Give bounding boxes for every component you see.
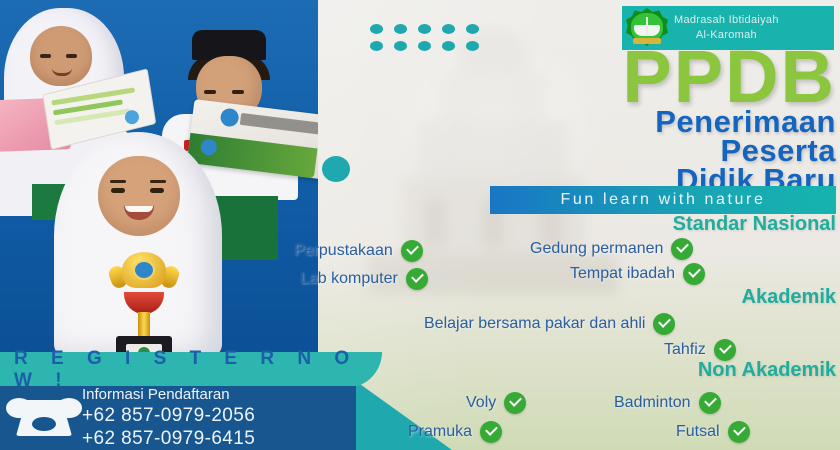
check-circle-icon: [401, 240, 423, 262]
check-circle-icon: [714, 339, 736, 361]
contact-phone-2[interactable]: +62 857-0979-6415: [82, 427, 255, 450]
feature-label: Tempat ibadah: [570, 265, 675, 283]
page-title-acronym: PPDB: [498, 42, 840, 112]
students-photo: [0, 0, 318, 368]
check-circle-icon: [683, 263, 705, 285]
feature-label: Lab komputer: [300, 270, 398, 288]
feature-item: Gedung permanen: [530, 238, 693, 260]
check-circle-icon: [671, 238, 693, 260]
feature-label: Belajar bersama pakar dan ahli: [424, 315, 645, 333]
contact-details: Informasi Pendaftaran +62 857-0979-2056 …: [82, 386, 255, 450]
teal-circle-decoration: [322, 156, 350, 182]
school-name-line1: Madrasah Ibtidaiyah: [674, 13, 779, 28]
feature-item: Lab komputer: [300, 268, 428, 290]
feature-label: Perpustakaan: [294, 242, 393, 260]
feature-item: Tempat ibadah: [570, 263, 705, 285]
dot-grid-decoration: [370, 24, 482, 51]
ppdb-admission-poster: Madrasah Ibtidaiyah Al-Karomah PPDB Pene…: [0, 0, 840, 450]
feature-item: Futsal: [676, 421, 750, 443]
section-heading-standar-nasional: Standar Nasional: [673, 213, 836, 236]
feature-item: Perpustakaan: [294, 240, 423, 262]
student-girl-front: [10, 132, 270, 368]
register-now-banner[interactable]: R E G I S T E R N O W !: [0, 352, 382, 388]
check-circle-icon: [480, 421, 502, 443]
feature-label: Tahfiz: [664, 341, 706, 359]
feature-item: Belajar bersama pakar dan ahli: [424, 313, 675, 335]
telephone-icon: [6, 396, 82, 440]
check-circle-icon: [699, 392, 721, 414]
check-circle-icon: [504, 392, 526, 414]
check-circle-icon: [653, 313, 675, 335]
feature-item: Pramuka: [408, 421, 502, 443]
feature-label: Badminton: [614, 394, 691, 412]
feature-item: Badminton: [614, 392, 721, 414]
check-circle-icon: [728, 421, 750, 443]
feature-item: Tahfiz: [664, 339, 736, 361]
contact-box: Informasi Pendaftaran +62 857-0979-2056 …: [0, 386, 356, 450]
feature-label: Futsal: [676, 423, 720, 441]
feature-label: Voly: [466, 394, 496, 412]
feature-label: Pramuka: [408, 423, 472, 441]
contact-title: Informasi Pendaftaran: [82, 386, 255, 404]
feature-label: Gedung permanen: [530, 240, 663, 258]
tagline-banner: Fun learn with nature: [490, 186, 836, 214]
contact-phone-1[interactable]: +62 857-0979-2056: [82, 404, 255, 427]
check-circle-icon: [406, 268, 428, 290]
section-heading-non-akademik: Non Akademik: [698, 359, 836, 382]
section-heading-akademik: Akademik: [742, 286, 837, 309]
feature-item: Voly: [466, 392, 526, 414]
